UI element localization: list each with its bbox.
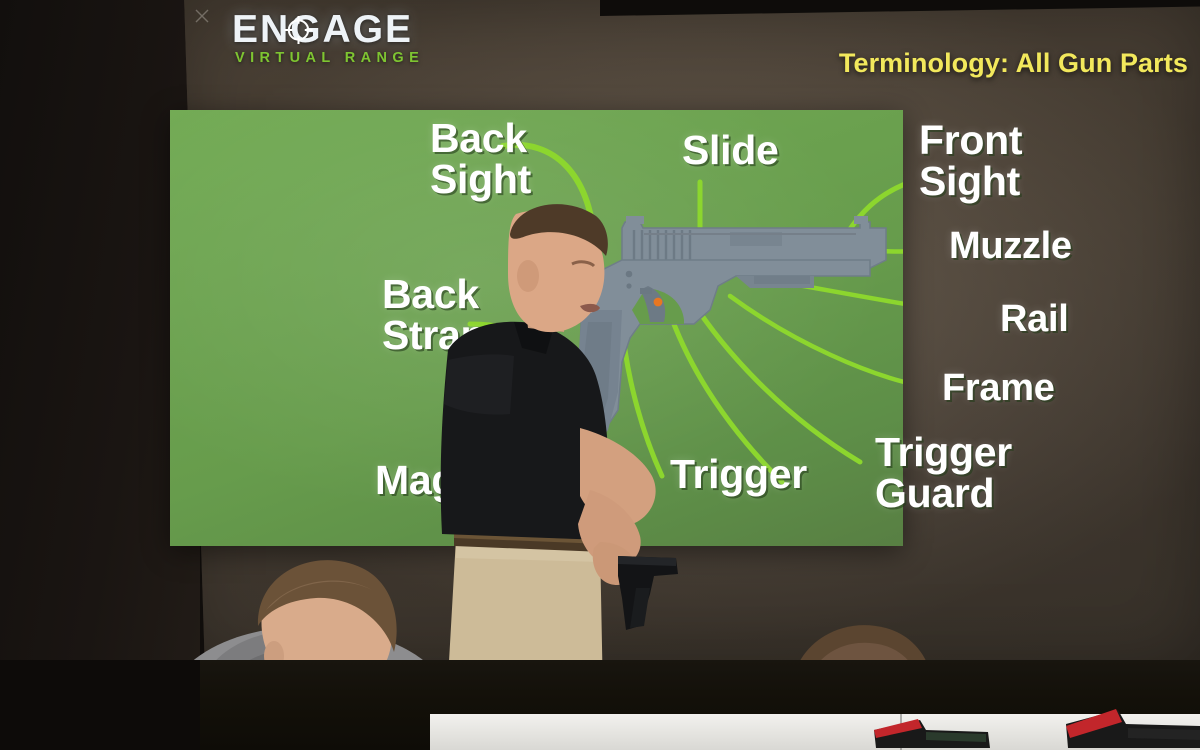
diagram-label-frame: Frame (942, 370, 1055, 408)
table-pistol-right[interactable] (1062, 698, 1200, 750)
logo-letter-g: G (290, 10, 322, 49)
training-pistol-held (618, 556, 678, 630)
logo-text-pre: EN (232, 10, 290, 49)
diagram-label-back-sight: Back Sight (430, 118, 531, 199)
diagram-label-slide: Slide (682, 130, 778, 171)
logo-text-g: G (290, 8, 322, 51)
diagram-label-trigger-guard: Trigger Guard (875, 432, 1012, 513)
diagram-label-front-sight: Front Sight (919, 120, 1022, 201)
engage-wordmark: EN G AGE (232, 10, 432, 49)
table-pistol-left[interactable] (868, 702, 998, 750)
diagram-label-rail: Rail (1000, 301, 1069, 339)
classroom-scene: EN G AGE VIRTUAL RANGE Terminology: All … (0, 0, 1200, 750)
logo-tagline: VIRTUAL RANGE (235, 50, 432, 66)
lower-left-band (0, 660, 200, 750)
diagram-label-trigger: Trigger (670, 454, 807, 495)
logo-text-post: AGE (323, 10, 414, 49)
diagram-label-muzzle: Muzzle (949, 228, 1072, 266)
close-x-icon[interactable] (194, 8, 210, 24)
slide-title: Terminology: All Gun Parts (839, 48, 1188, 79)
engage-logo: EN G AGE VIRTUAL RANGE (232, 10, 432, 66)
